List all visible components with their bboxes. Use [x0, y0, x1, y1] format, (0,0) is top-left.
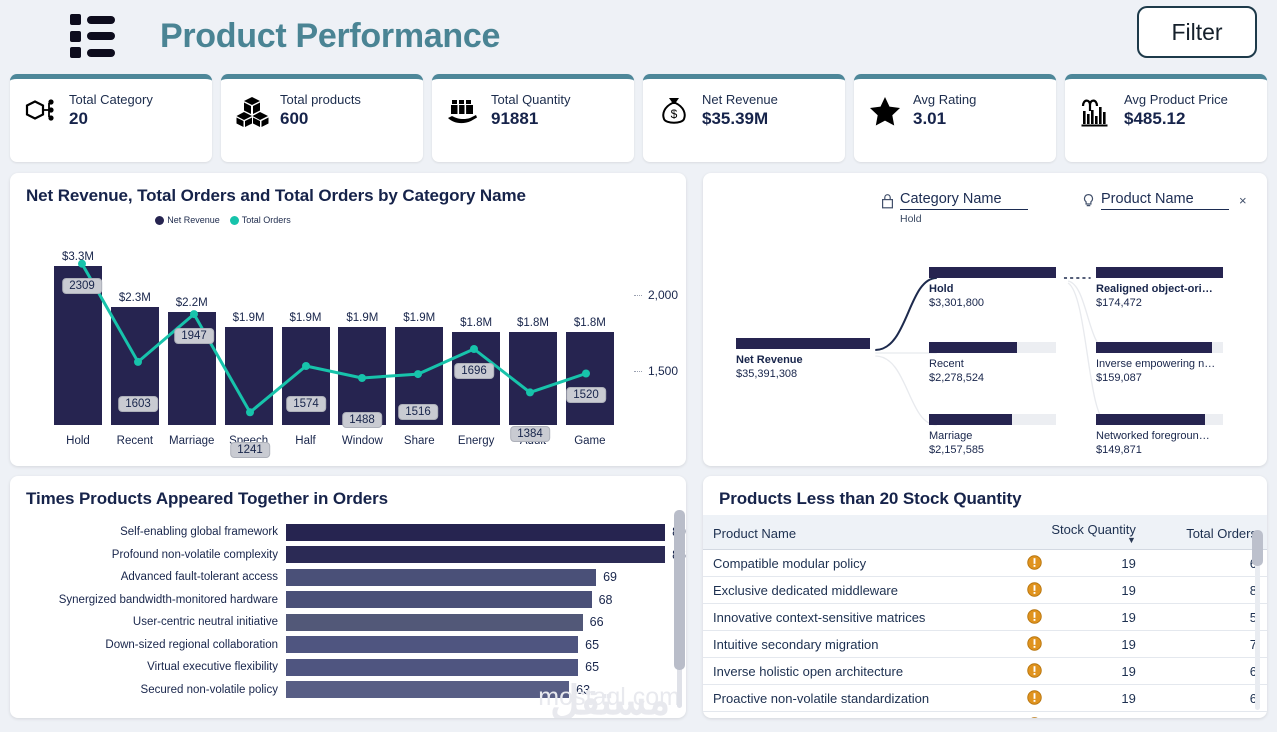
bar-data-label: $1.8M — [517, 317, 549, 329]
cell-product-name: Innovative context-sensitive matrices — [703, 604, 1018, 631]
tree-node-value: $2,278,524 — [929, 371, 1056, 385]
table-row[interactable]: Proactive non-volatile standardization19… — [703, 685, 1267, 712]
quantity-hand-icon — [446, 94, 480, 128]
bar-category-label: Half — [295, 435, 315, 447]
combo-chart-legend: Net Revenue Total Orders — [10, 215, 686, 225]
bar-column[interactable]: $1.8MEnergy — [452, 251, 500, 425]
table-row[interactable]: Compatible modular policy196 — [703, 550, 1267, 577]
page-title: Product Performance — [160, 17, 500, 56]
cell-stock-flag — [1018, 658, 1052, 685]
table-row[interactable]: Innovative context-sensitive matrices195 — [703, 604, 1267, 631]
column-header-total-orders[interactable]: Total Orders — [1146, 515, 1267, 550]
hbar-value-label: 66 — [590, 615, 604, 629]
cell-stock-quantity: 19 — [1052, 577, 1146, 604]
hbar-category-label: Profound non-volatile complexity — [10, 549, 286, 561]
tree-field-name: Category Name — [900, 191, 1028, 210]
cell-stock-quantity: 19 — [1052, 631, 1146, 658]
warning-icon — [1027, 555, 1042, 570]
tree-node-label: Networked foregroun… — [1096, 429, 1223, 443]
column-header-stock-quantity[interactable]: Stock Quantity ▼ — [1018, 515, 1146, 550]
kpi-label: Avg Rating — [913, 91, 976, 108]
table-row[interactable]: Intuitive secondary migration197 — [703, 631, 1267, 658]
kpi-card-avg-product-price[interactable]: Avg Product Price $485.12 — [1065, 74, 1267, 162]
hbar-fill[interactable] — [286, 636, 578, 653]
kpi-label: Net Revenue — [702, 91, 778, 108]
bar-data-label: $2.2M — [176, 297, 208, 309]
kpi-card-total-category[interactable]: Total Category 20 — [10, 74, 212, 162]
cell-stock-flag — [1018, 712, 1052, 719]
hbar-fill[interactable] — [286, 681, 569, 698]
bar-rect[interactable] — [225, 327, 273, 425]
hbar-value-label: 65 — [585, 660, 599, 674]
cell-product-name: Compatible modular policy — [703, 550, 1018, 577]
table-row[interactable]: Inverse holistic open architecture196 — [703, 658, 1267, 685]
line-data-label: 1574 — [286, 396, 326, 412]
warning-icon — [1027, 717, 1042, 718]
hbar-value-label: 65 — [585, 638, 599, 652]
hbar-chart-title: Times Products Appeared Together in Orde… — [10, 476, 686, 509]
legend-item-net-revenue[interactable]: Net Revenue — [155, 215, 220, 225]
kpi-value: 3.01 — [913, 108, 976, 130]
bar-column[interactable]: $1.9MWindow — [338, 251, 386, 425]
tree-node-level1[interactable]: Marriage $2,157,585 — [929, 414, 1056, 457]
line-data-label: 1516 — [398, 404, 438, 420]
dashboard-page: Product Performance Filter Total Categor… — [0, 0, 1277, 732]
cell-stock-flag — [1018, 550, 1052, 577]
kpi-value: 600 — [280, 108, 361, 130]
bar-category-label: Hold — [66, 435, 90, 447]
kpi-value: 91881 — [491, 108, 571, 130]
line-data-label: 1947 — [174, 328, 214, 344]
close-icon[interactable]: × — [1239, 193, 1247, 208]
bar-rect[interactable] — [338, 327, 386, 425]
line-data-label: 1520 — [566, 387, 606, 403]
hbar-series: Self-enabling global framework89Profound… — [10, 509, 686, 701]
tree-node-label: Inverse empowering n… — [1096, 357, 1223, 371]
price-chart-icon — [1079, 94, 1113, 128]
bar-data-label: $1.9M — [233, 312, 265, 324]
kpi-label: Total products — [280, 91, 361, 108]
cell-total-orders: 6 — [1146, 685, 1267, 712]
hbar-track: 68 — [286, 591, 686, 608]
hbar-scrollbar[interactable] — [677, 510, 682, 708]
line-data-label: 1696 — [454, 363, 494, 379]
combo-chart-panel: Net Revenue, Total Orders and Total Orde… — [10, 173, 686, 466]
bar-column[interactable]: $1.9MSpeech — [225, 251, 273, 425]
hbar-category-label: Down-sized regional collaboration — [10, 639, 286, 651]
cell-stock-quantity: 19 — [1052, 685, 1146, 712]
hbar-track: 89 — [286, 524, 686, 541]
hbar-fill[interactable] — [286, 659, 578, 676]
combo-chart-plot: $3.3MHold$2.3MRecent$2.2MMarriage$1.9MSp… — [10, 229, 686, 455]
cell-product-name: Inverse holistic open architecture — [703, 658, 1018, 685]
kpi-row: Total Category 20 Total products 600 — [10, 74, 1267, 162]
kpi-card-total-products[interactable]: Total products 600 — [221, 74, 423, 162]
bar-category-label: Energy — [458, 435, 494, 447]
decomposition-tree-panel: Category Name Hold Product Name × — [703, 173, 1267, 466]
cell-total-orders: 7 — [1146, 631, 1267, 658]
cell-total-orders: 6 — [1146, 550, 1267, 577]
kpi-card-avg-rating[interactable]: Avg Rating 3.01 — [854, 74, 1056, 162]
tree-node-label: Net Revenue — [736, 353, 870, 367]
hbar-track: 63 — [286, 681, 686, 698]
tree-link-lines — [703, 225, 1267, 435]
lightbulb-icon — [1082, 193, 1095, 209]
hbar-category-label: Synergized bandwidth-monitored hardware — [10, 594, 286, 606]
table-scrollbar[interactable] — [1255, 530, 1260, 710]
tree-node-level2[interactable]: Networked foregroun… $149,871 — [1096, 414, 1223, 457]
bar-data-label: $1.9M — [346, 312, 378, 324]
kpi-value: $35.39M — [702, 108, 778, 130]
cell-total-orders: 6 — [1146, 658, 1267, 685]
star-icon — [868, 94, 902, 128]
hbar-category-label: Self-enabling global framework — [10, 526, 286, 538]
boxes-icon — [235, 94, 269, 128]
cell-product-name: Exclusive dedicated middleware — [703, 577, 1018, 604]
hbar-row[interactable]: Advanced fault-tolerant access69 — [10, 566, 686, 589]
tree-node-label: Marriage — [929, 429, 1056, 443]
warning-icon — [1027, 609, 1042, 624]
tree-node-level2[interactable]: Realigned object-ori… $174,472 — [1096, 267, 1223, 310]
bar-data-label: $1.9M — [290, 312, 322, 324]
warning-icon — [1027, 663, 1042, 678]
column-header-product-name[interactable]: Product Name — [703, 515, 1018, 550]
hbar-fill[interactable] — [286, 569, 596, 586]
hbar-row[interactable]: Secured non-volatile policy63 — [10, 679, 686, 702]
lock-icon — [881, 193, 894, 209]
cell-stock-quantity: 19 — [1052, 604, 1146, 631]
decomposition-tree-body: Net Revenue $35,391,308 Hold $3,301,800 … — [703, 225, 1267, 435]
money-bag-icon: $ — [657, 94, 691, 128]
cell-product-name: Synchronized multi-tasking hierarchy — [703, 712, 1018, 719]
legend-swatch-icon — [155, 216, 164, 225]
tree-node-label: Realigned object-ori… — [1096, 282, 1223, 296]
bar-category-label: Recent — [117, 435, 153, 447]
warning-icon — [1027, 582, 1042, 597]
tree-field-value: Hold — [900, 213, 1028, 225]
hbar-category-label: Virtual executive flexibility — [10, 661, 286, 673]
bar-rect[interactable] — [509, 332, 557, 425]
hbar-row[interactable]: Synergized bandwidth-monitored hardware6… — [10, 589, 686, 612]
legend-label: Total Orders — [242, 215, 291, 225]
hbar-track: 69 — [286, 569, 686, 586]
line-data-label: 1488 — [342, 412, 382, 428]
cell-stock-quantity: 19 — [1052, 712, 1146, 719]
tree-node-level2[interactable]: Inverse empowering n… $159,087 — [1096, 342, 1223, 385]
secondary-y-axis: 2,000 1,500 — [616, 251, 682, 425]
category-node-icon — [24, 94, 58, 128]
bar-rect[interactable] — [566, 332, 614, 425]
bar-data-label: $3.3M — [62, 251, 94, 263]
tree-field-category-name[interactable]: Category Name Hold — [881, 191, 1028, 225]
hbar-value-label: 68 — [599, 593, 613, 607]
tree-node-value: $2,157,585 — [929, 443, 1056, 457]
hbar-track: 66 — [286, 614, 686, 631]
kpi-label: Total Quantity — [491, 91, 571, 108]
tree-node-level1[interactable]: Hold $3,301,800 — [929, 267, 1056, 310]
hbar-track: 65 — [286, 659, 686, 676]
kpi-card-total-quantity[interactable]: Total Quantity 91881 — [432, 74, 634, 162]
legend-item-total-orders[interactable]: Total Orders — [230, 215, 291, 225]
legend-swatch-icon — [230, 216, 239, 225]
table-scrollbar-thumb[interactable] — [1252, 530, 1263, 566]
bar-data-label: $1.8M — [460, 317, 492, 329]
hbar-chart-panel: Times Products Appeared Together in Orde… — [10, 476, 686, 718]
stock-table: Product Name Stock Quantity ▼ Total Orde… — [703, 515, 1267, 718]
line-data-label: 2309 — [62, 278, 102, 294]
hbar-track: 65 — [286, 636, 686, 653]
cell-stock-flag — [1018, 604, 1052, 631]
legend-label: Net Revenue — [167, 215, 220, 225]
table-row[interactable]: Synchronized multi-tasking hierarchy196 — [703, 712, 1267, 719]
hbar-category-label: Secured non-volatile policy — [10, 684, 286, 696]
tree-node-value: $149,871 — [1096, 443, 1223, 457]
y-tick: 1,500 — [648, 364, 678, 378]
kpi-label: Total Category — [69, 91, 153, 108]
tree-field-name: Product Name — [1101, 191, 1229, 210]
hbar-row[interactable]: Self-enabling global framework89 — [10, 521, 686, 544]
kpi-value: $485.12 — [1124, 108, 1228, 130]
tree-node-value: $3,301,800 — [929, 296, 1056, 310]
hbar-category-label: User-centric neutral initiative — [10, 616, 286, 628]
tree-node-level1[interactable]: Recent $2,278,524 — [929, 342, 1056, 385]
hbar-fill[interactable] — [286, 614, 583, 631]
sort-desc-icon: ▼ — [1028, 537, 1136, 544]
hbar-fill[interactable] — [286, 591, 592, 608]
cell-stock-quantity: 19 — [1052, 658, 1146, 685]
cell-stock-flag — [1018, 577, 1052, 604]
kpi-label: Avg Product Price — [1124, 91, 1228, 108]
cell-stock-quantity: 19 — [1052, 550, 1146, 577]
cell-product-name: Intuitive secondary migration — [703, 631, 1018, 658]
bar-column[interactable]: $1.9MShare — [395, 251, 443, 425]
bar-category-label: Share — [404, 435, 435, 447]
y-tick: 2,000 — [648, 288, 678, 302]
hbar-category-label: Advanced fault-tolerant access — [10, 571, 286, 583]
hbar-row[interactable]: Profound non-volatile complexity86 — [10, 544, 686, 567]
column-header-label: Stock Quantity — [1051, 522, 1136, 537]
filter-button[interactable]: Filter — [1137, 6, 1257, 58]
hbar-value-label: 63 — [576, 683, 590, 697]
bar-data-label: $1.8M — [574, 317, 606, 329]
list-icon[interactable] — [70, 14, 118, 58]
cell-stock-flag — [1018, 631, 1052, 658]
tree-node-label: Recent — [929, 357, 1056, 371]
row-charts-top: Net Revenue, Total Orders and Total Orde… — [10, 173, 1267, 466]
tree-node-value: $159,087 — [1096, 371, 1223, 385]
line-data-label: 1603 — [118, 396, 158, 412]
bar-category-label: Game — [574, 435, 605, 447]
bar-data-label: $1.9M — [403, 312, 435, 324]
stock-table-panel: Products Less than 20 Stock Quantity Pro… — [703, 476, 1267, 718]
table-header-row: Product Name Stock Quantity ▼ Total Orde… — [703, 515, 1267, 550]
bar-column[interactable]: $1.8MAdult — [509, 251, 557, 425]
bar-category-label: Marriage — [169, 435, 214, 447]
warning-icon — [1027, 690, 1042, 705]
tree-node-root[interactable]: Net Revenue $35,391,308 — [736, 338, 870, 381]
decomposition-tree-fields: Category Name Hold Product Name × — [703, 173, 1267, 225]
cell-total-orders: 6 — [1146, 712, 1267, 719]
hbar-value-label: 69 — [603, 570, 617, 584]
combo-chart-title: Net Revenue, Total Orders and Total Orde… — [10, 173, 686, 206]
hbar-track: 86 — [286, 546, 686, 563]
hbar-fill[interactable] — [286, 524, 665, 541]
hbar-row[interactable]: Virtual executive flexibility65 — [10, 656, 686, 679]
tree-field-product-name[interactable]: Product Name × — [1082, 191, 1247, 225]
svg-text:$: $ — [671, 107, 678, 121]
hbar-scrollbar-thumb[interactable] — [674, 510, 685, 670]
hbar-row[interactable]: User-centric neutral initiative66 — [10, 611, 686, 634]
line-data-label: 1241 — [230, 442, 270, 458]
kpi-card-net-revenue[interactable]: $ Net Revenue $35.39M — [643, 74, 845, 162]
tree-node-label: Hold — [929, 282, 1056, 296]
tree-node-value: $174,472 — [1096, 296, 1223, 310]
cell-total-orders: 5 — [1146, 604, 1267, 631]
bar-category-label: Window — [342, 435, 383, 447]
tree-node-value: $35,391,308 — [736, 367, 870, 381]
table-row[interactable]: Exclusive dedicated middleware198 — [703, 577, 1267, 604]
cell-product-name: Proactive non-volatile standardization — [703, 685, 1018, 712]
bar-data-label: $2.3M — [119, 292, 151, 304]
warning-icon — [1027, 636, 1042, 651]
kpi-value: 20 — [69, 108, 153, 130]
hbar-row[interactable]: Down-sized regional collaboration65 — [10, 634, 686, 657]
line-data-label: 1384 — [510, 426, 550, 442]
hbar-fill[interactable] — [286, 546, 665, 563]
dashboard-header: Product Performance Filter — [10, 0, 1267, 72]
stock-table-title: Products Less than 20 Stock Quantity — [703, 476, 1267, 509]
table-body: Compatible modular policy196Exclusive de… — [703, 550, 1267, 719]
cell-total-orders: 8 — [1146, 577, 1267, 604]
cell-stock-flag — [1018, 685, 1052, 712]
row-charts-bottom: Times Products Appeared Together in Orde… — [10, 476, 1267, 718]
